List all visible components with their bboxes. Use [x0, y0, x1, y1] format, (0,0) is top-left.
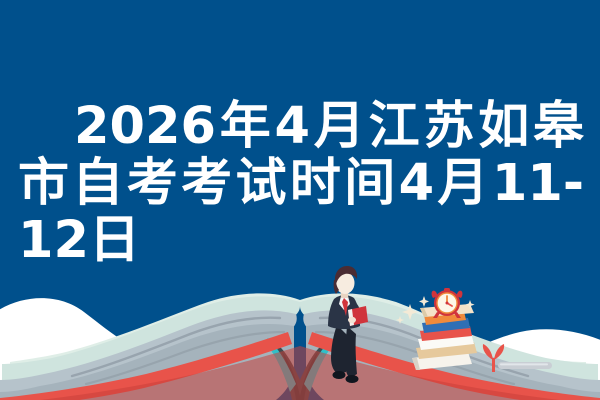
clock-center-dot — [446, 302, 449, 305]
poster-title: 2026年4月江苏如皋市自考考试时间4月11-12日 — [18, 98, 584, 269]
alarm-clock — [432, 288, 463, 318]
pencil-body — [498, 362, 552, 369]
pencil-bar — [498, 362, 552, 369]
student-leg-front — [345, 326, 357, 378]
student-hand — [348, 317, 356, 323]
pencil-highlight — [500, 363, 548, 365]
sparkle-star-2 — [419, 296, 429, 307]
poster-canvas: 2026年4月江苏如皋市自考考试时间4月11-12日 — [0, 0, 600, 400]
student-shoe-front — [346, 375, 359, 383]
title-block: 2026年4月江苏如皋市自考考试时间4月11-12日 — [18, 98, 584, 269]
student-shoe-back — [333, 371, 346, 379]
plant-stem — [492, 358, 495, 372]
